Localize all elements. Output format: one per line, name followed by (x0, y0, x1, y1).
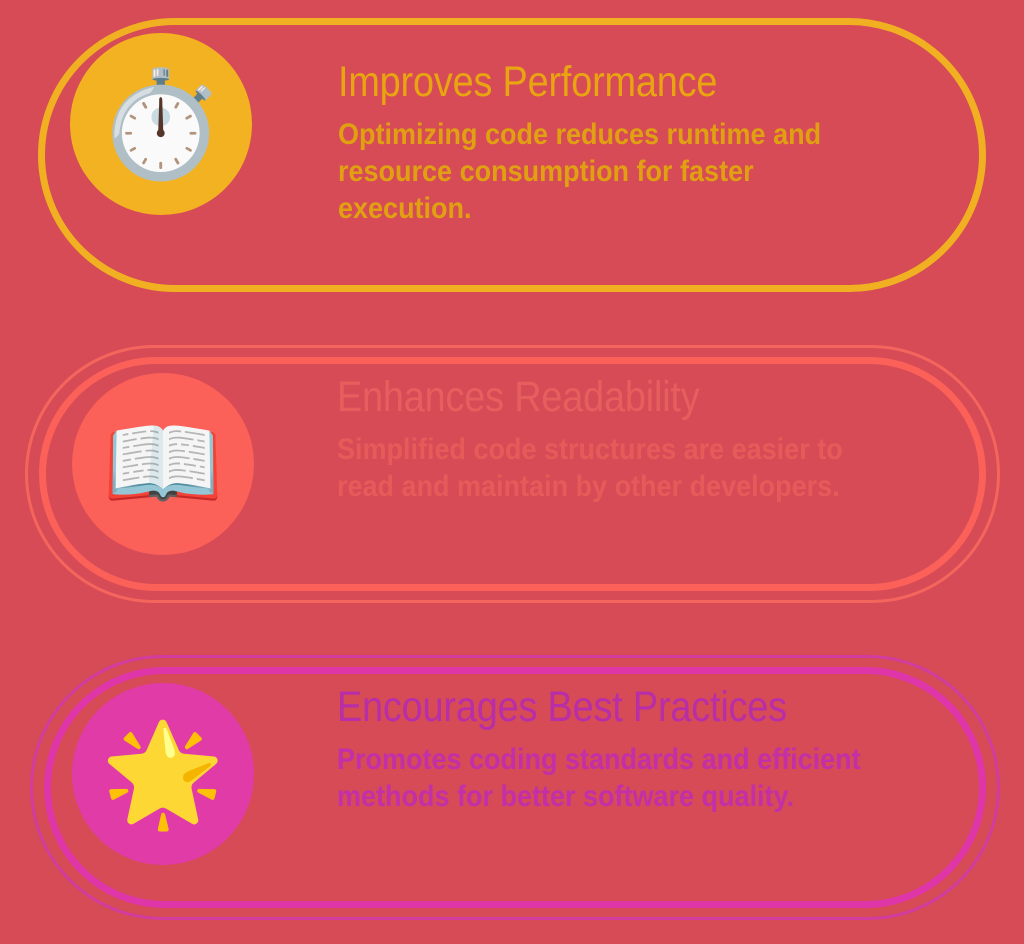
card-title: Encourages Best Practices (337, 685, 900, 730)
card-text-column: Encourages Best Practices Promotes codin… (337, 685, 977, 816)
stopwatch-icon: ⏱️ (96, 72, 226, 176)
card-title: Enhances Readability (337, 375, 883, 420)
card-description: Optimizing code reduces runtime and reso… (338, 117, 878, 228)
open-book-icon: 📖 (102, 415, 224, 513)
benefit-card-improves-performance[interactable]: ⏱️ Improves Performance Optimizing code … (38, 18, 986, 292)
card-description: Promotes coding standards and efficient … (337, 742, 913, 816)
card-title: Improves Performance (338, 60, 866, 105)
benefits-card-stack: ⏱️ Improves Performance Optimizing code … (0, 0, 1024, 944)
glowing-star-icon: 🌟 (101, 724, 226, 824)
card-text-column: Enhances Readability Simplified code str… (337, 375, 957, 506)
benefit-card-encourages-best-practices[interactable]: 🌟 Encourages Best Practices Promotes cod… (30, 655, 1000, 920)
icon-badge: 🌟 (72, 683, 254, 865)
icon-badge: 📖 (72, 373, 254, 555)
benefit-card-enhances-readability[interactable]: 📖 Enhances Readability Simplified code s… (25, 345, 1000, 603)
card-description: Simplified code structures are easier to… (337, 432, 895, 506)
card-text-column: Improves Performance Optimizing code red… (338, 60, 938, 228)
icon-badge: ⏱️ (70, 33, 252, 215)
